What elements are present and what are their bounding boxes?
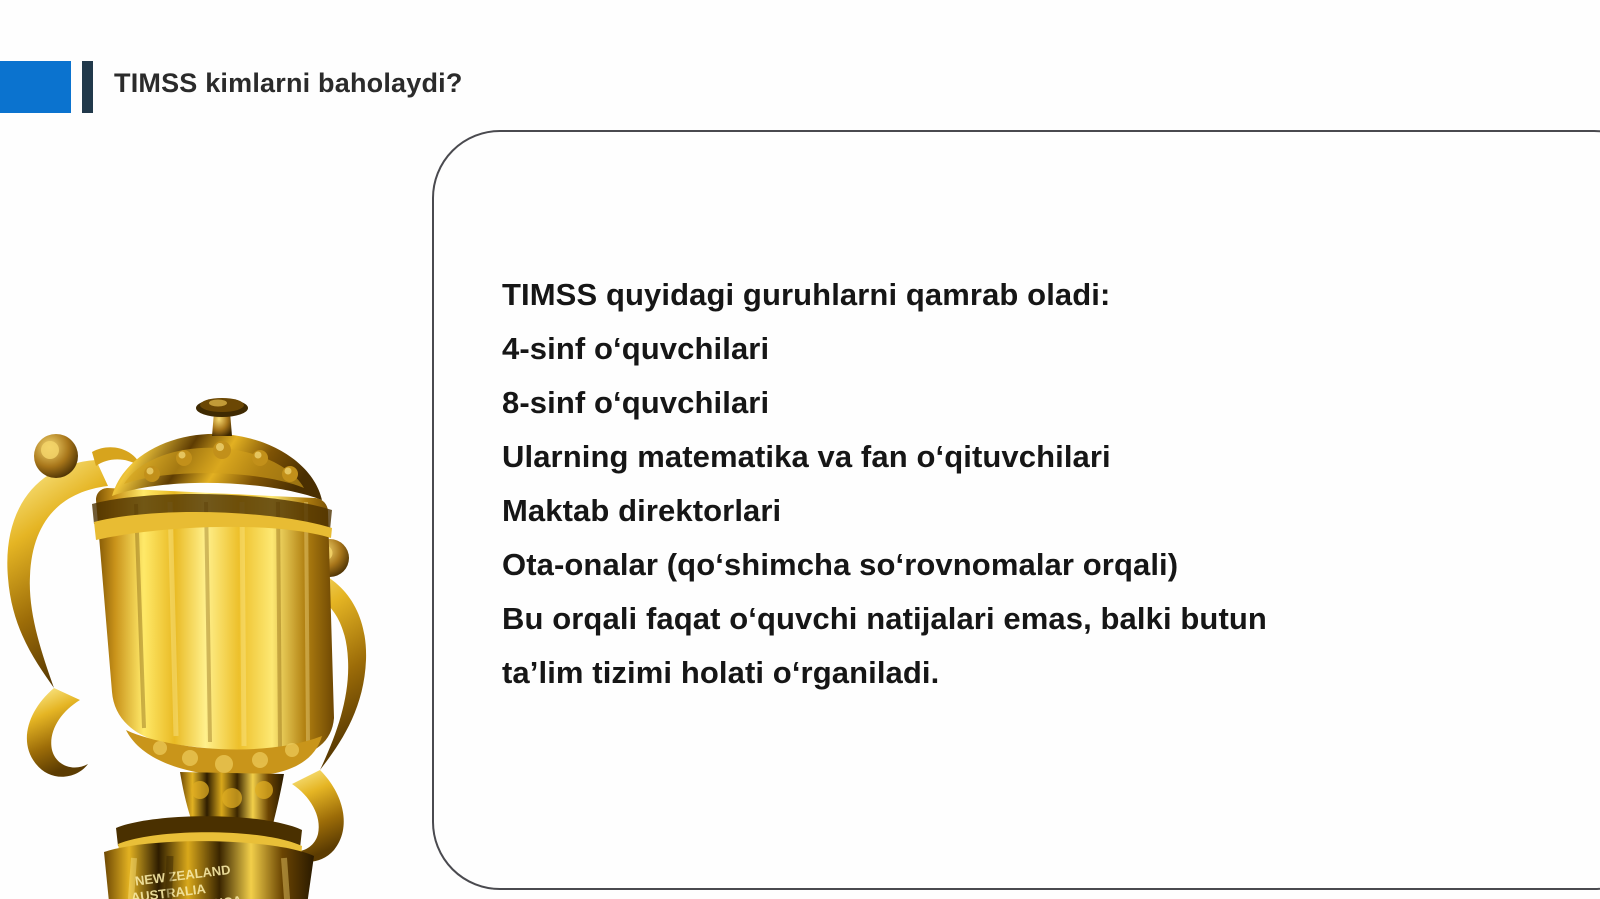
body-line: 8-sinf o‘quvchilari [502, 376, 1562, 430]
header-accent-block [0, 61, 71, 113]
body-line: TIMSS quyidagi guruhlarni qamrab oladi: [502, 268, 1562, 322]
body-line: Maktab direktorlari [502, 484, 1562, 538]
slide-canvas: TIMSS kimlarni baholaydi? [0, 0, 1600, 899]
body-line: Bu orqali faqat o‘quvchi natijalari emas… [502, 592, 1302, 700]
header-accent-bar [82, 61, 93, 113]
body-line: Ota-onalar (qo‘shimcha so‘rovnomalar orq… [502, 538, 1562, 592]
page-title: TIMSS kimlarni baholaydi? [114, 68, 1014, 99]
body-line: 4-sinf o‘quvchilari [502, 322, 1562, 376]
trophy-image: NEW ZEALAND AUSTRALIA 95 SOUTH AFRICA [0, 392, 394, 899]
body-line: Ularning matematika va fan o‘qituvchilar… [502, 430, 1562, 484]
body-text-block: TIMSS quyidagi guruhlarni qamrab oladi: … [502, 268, 1562, 700]
